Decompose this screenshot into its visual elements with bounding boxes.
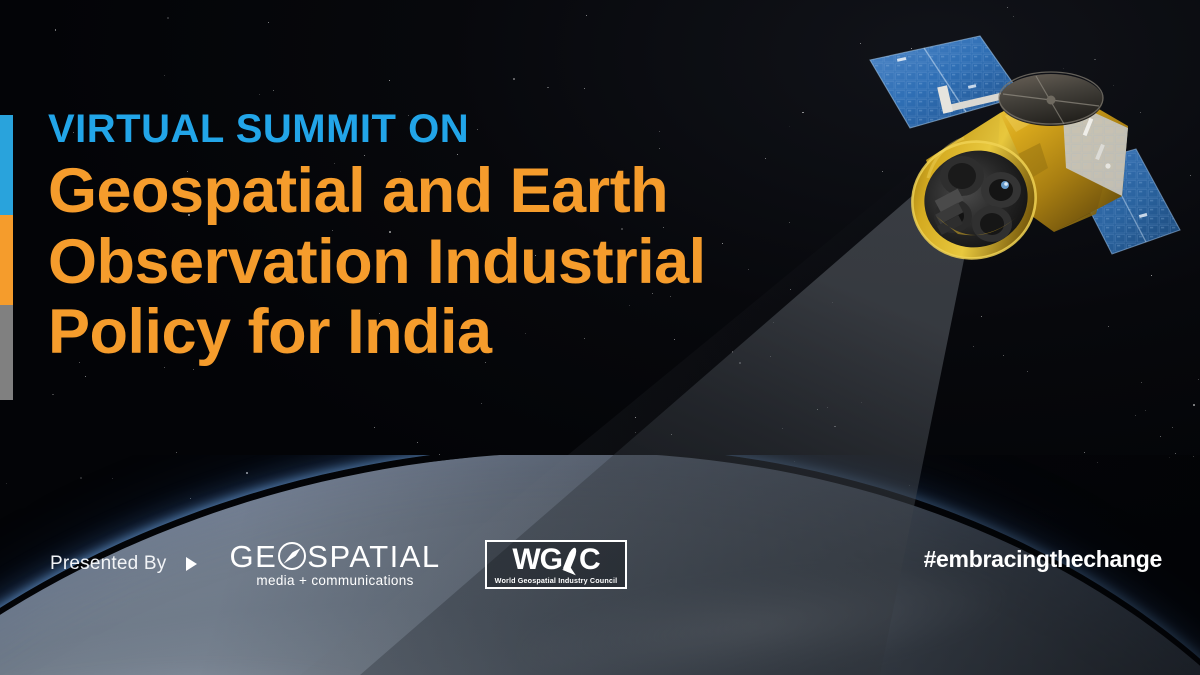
wgic-wordmark-before: WG	[512, 546, 562, 575]
title-line-3: Policy for India	[48, 297, 928, 368]
page-title: Geospatial and Earth Observation Industr…	[48, 156, 928, 368]
wgic-wordmark: WG C	[512, 546, 599, 575]
eyebrow-text: VIRTUAL SUMMIT ON	[48, 108, 928, 150]
geospatial-tagline: media + communications	[229, 573, 440, 588]
compass-icon	[278, 542, 306, 570]
geospatial-wordmark-before: GE	[229, 541, 277, 572]
logo-geospatial-media[interactable]: GE SPATIAL media + communications	[229, 541, 440, 588]
accent-bar-gray	[0, 305, 13, 400]
logo-wgic[interactable]: WG C World Geospatial Industry Council	[485, 540, 628, 589]
campaign-hashtag: #embracingthechange	[924, 546, 1162, 573]
title-line-2: Observation Industrial	[48, 227, 928, 298]
headline-block: VIRTUAL SUMMIT ON Geospatial and Earth O…	[48, 108, 928, 368]
triangle-right-icon	[186, 557, 197, 571]
rocket-slash-icon	[562, 546, 579, 574]
title-line-1: Geospatial and Earth	[48, 156, 928, 227]
geospatial-wordmark-after: SPATIAL	[307, 541, 440, 572]
geospatial-wordmark: GE SPATIAL	[229, 541, 440, 572]
wgic-wordmark-after: C	[579, 546, 600, 575]
footer-credits: Presented By GE SPATIAL media + communic…	[50, 540, 627, 589]
poster-canvas: VIRTUAL SUMMIT ON Geospatial and Earth O…	[0, 0, 1200, 675]
accent-bar-orange	[0, 215, 13, 305]
wgic-tagline: World Geospatial Industry Council	[495, 576, 618, 585]
presented-by-label: Presented By	[50, 553, 166, 575]
accent-bar-blue	[0, 115, 13, 215]
